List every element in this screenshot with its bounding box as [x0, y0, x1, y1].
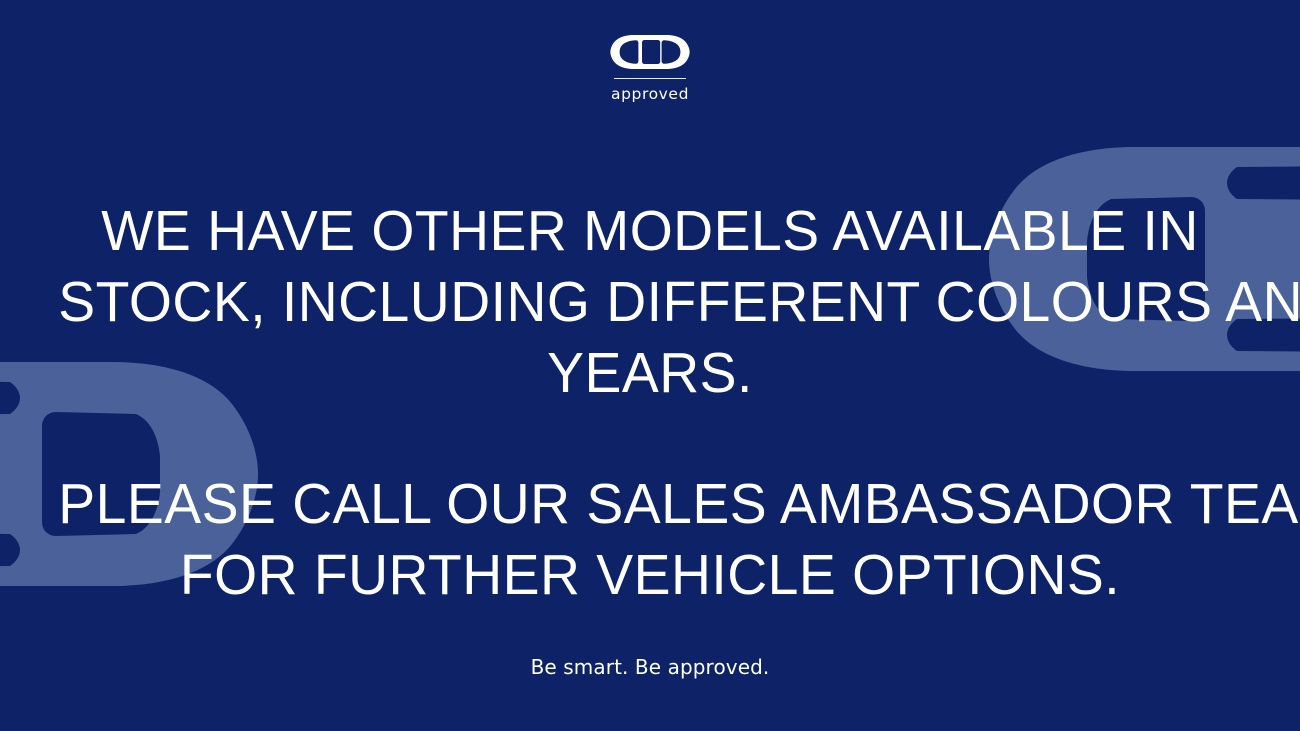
logo-divider — [614, 78, 686, 79]
headline-line: STOCK, INCLUDING DIFFERENT COLOURS AND — [58, 267, 1241, 338]
car-top-view-icon — [610, 34, 690, 70]
headline-line: FOR FURTHER VEHICLE OPTIONS. — [58, 540, 1241, 611]
slide-canvas: approved WE HAVE OTHER MODELS AVAILABLE … — [0, 0, 1300, 731]
headline-line: YEARS. — [58, 338, 1241, 409]
message-copy: WE HAVE OTHER MODELS AVAILABLE IN STOCK,… — [0, 196, 1300, 611]
logo-wordmark: approved — [611, 85, 689, 103]
brand-logo: approved — [0, 34, 1300, 103]
headline-paragraph-1: WE HAVE OTHER MODELS AVAILABLE IN STOCK,… — [40, 196, 1260, 409]
headline-line: WE HAVE OTHER MODELS AVAILABLE IN — [58, 196, 1241, 267]
headline-paragraph-2: PLEASE CALL OUR SALES AMBASSADOR TEAM FO… — [40, 469, 1260, 611]
headline-line: PLEASE CALL OUR SALES AMBASSADOR TEAM — [58, 469, 1241, 540]
brand-tagline: Be smart. Be approved. — [0, 655, 1300, 679]
